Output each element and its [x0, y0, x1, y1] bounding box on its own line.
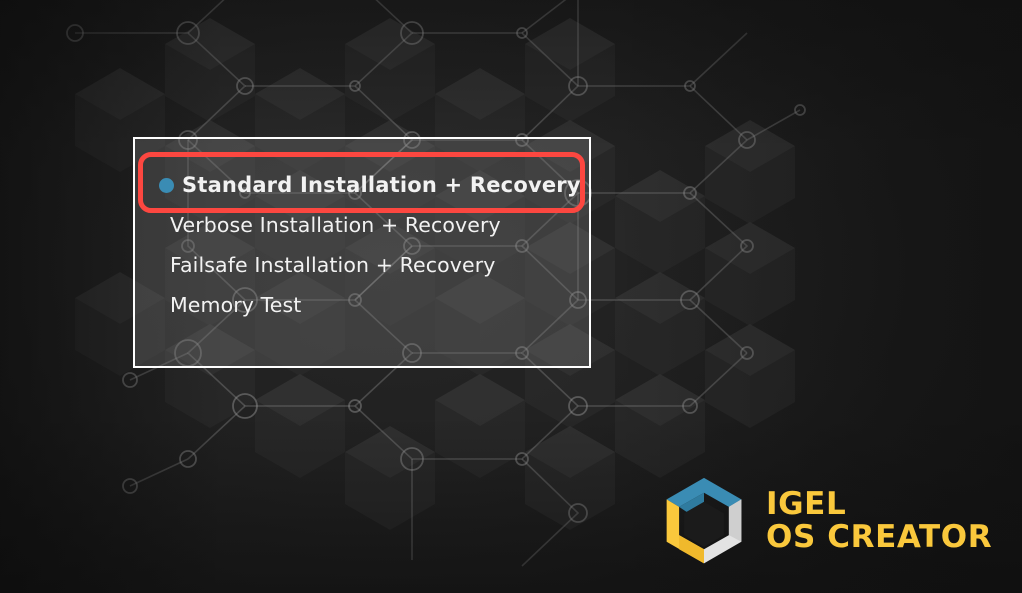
boot-menu-item-memory-test[interactable]: Memory Test	[135, 285, 589, 325]
boot-menu-item-label: Standard Installation + Recovery	[182, 173, 581, 197]
boot-screen: Standard Installation + Recovery Verbose…	[0, 0, 1022, 593]
logo-line-os-creator: OS CREATOR	[766, 521, 992, 554]
igel-hexagon-logo-icon	[662, 477, 746, 565]
boot-menu-item-label: Memory Test	[170, 293, 301, 317]
boot-menu-item-verbose[interactable]: Verbose Installation + Recovery	[135, 205, 589, 245]
boot-menu-list: Standard Installation + Recovery Verbose…	[135, 139, 589, 325]
logo-line-igel: IGEL	[766, 488, 992, 521]
logo-wordmark: IGEL OS CREATOR	[766, 488, 992, 555]
boot-menu-item-label: Failsafe Installation + Recovery	[170, 253, 495, 277]
boot-menu-item-label: Verbose Installation + Recovery	[170, 213, 501, 237]
selected-bullet-icon	[159, 178, 174, 193]
boot-menu-item-standard[interactable]: Standard Installation + Recovery	[135, 165, 589, 205]
boot-menu-panel: Standard Installation + Recovery Verbose…	[133, 137, 591, 368]
igel-os-creator-logo: IGEL OS CREATOR	[662, 477, 992, 565]
boot-menu-item-failsafe[interactable]: Failsafe Installation + Recovery	[135, 245, 589, 285]
